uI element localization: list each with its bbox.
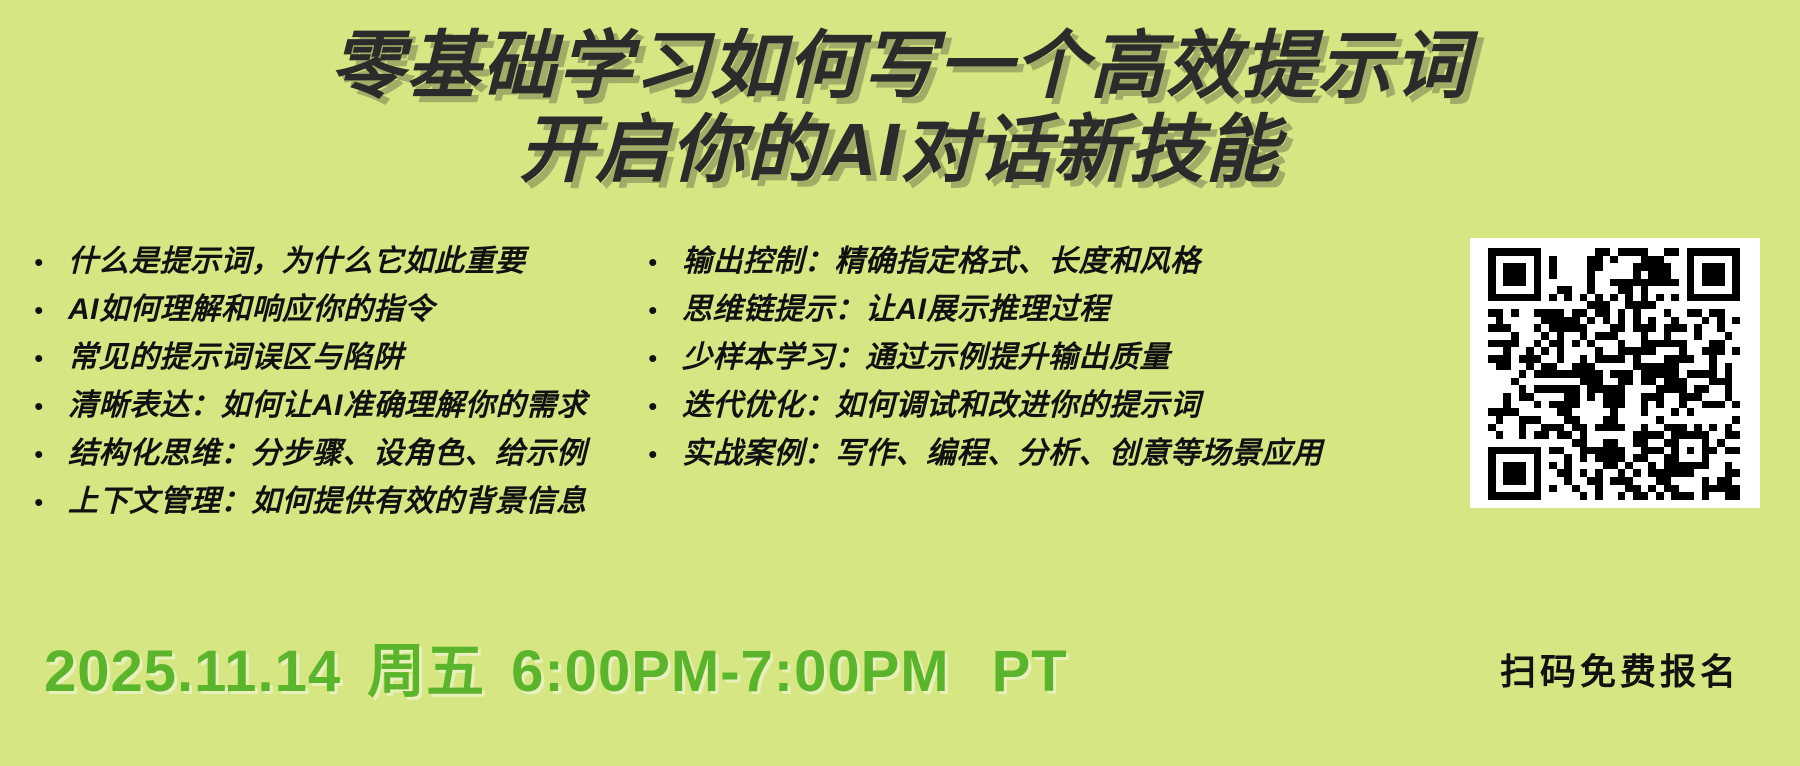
list-item: • AI如何理解和响应你的指令	[34, 286, 640, 334]
bullet-icon: •	[648, 430, 682, 478]
bullet-icon: •	[648, 334, 682, 382]
bullet-icon: •	[34, 382, 68, 430]
list-item-label: 思维链提示：让AI展示推理过程	[682, 286, 1110, 334]
list-item-label: 实战案例：写作、编程、分析、创意等场景应用	[682, 430, 1323, 478]
event-date: 2025.11.14	[44, 638, 341, 706]
event-timezone: PT	[992, 638, 1068, 706]
list-item: • 实战案例：写作、编程、分析、创意等场景应用	[648, 430, 1440, 478]
list-item: • 常见的提示词误区与陷阱	[34, 334, 640, 382]
bullet-icon: •	[648, 238, 682, 286]
list-item: • 思维链提示：让AI展示推理过程	[648, 286, 1440, 334]
list-item-label: AI如何理解和响应你的指令	[68, 286, 435, 334]
list-item-label: 结构化思维：分步骤、设角色、给示例	[68, 430, 587, 478]
list-item: • 少样本学习：通过示例提升输出质量	[648, 334, 1440, 382]
bullet-icon: •	[34, 478, 68, 526]
title-block: 零基础学习如何写一个高效提示词 开启你的AI对话新技能	[0, 24, 1800, 192]
title-line-2: 开启你的AI对话新技能	[0, 108, 1800, 192]
agenda-column-left: • 什么是提示词，为什么它如此重要 • AI如何理解和响应你的指令 • 常见的提…	[0, 238, 640, 526]
event-weekday: 周五	[367, 638, 485, 706]
agenda-column-right: • 输出控制：精确指定格式、长度和风格 • 思维链提示：让AI展示推理过程 • …	[640, 238, 1440, 478]
list-item-label: 什么是提示词，为什么它如此重要	[68, 238, 526, 286]
list-item: • 什么是提示词，为什么它如此重要	[34, 238, 640, 286]
list-item: • 上下文管理：如何提供有效的背景信息	[34, 478, 640, 526]
qr-code-image[interactable]	[1488, 248, 1740, 500]
list-item-label: 输出控制：精确指定格式、长度和风格	[682, 238, 1201, 286]
event-datetime: 2025.11.14周五6:00PM-7:00PMPT	[44, 638, 1068, 706]
qr-code-label: 扫码免费报名	[1470, 650, 1770, 694]
list-item-label: 常见的提示词误区与陷阱	[68, 334, 404, 382]
bullet-icon: •	[648, 382, 682, 430]
bullet-icon: •	[34, 238, 68, 286]
title-line-1: 零基础学习如何写一个高效提示词	[0, 24, 1800, 108]
bullet-icon: •	[34, 430, 68, 478]
list-item: • 结构化思维：分步骤、设角色、给示例	[34, 430, 640, 478]
event-poster: 零基础学习如何写一个高效提示词 开启你的AI对话新技能 • 什么是提示词，为什么…	[0, 0, 1800, 766]
qr-code-card[interactable]	[1470, 238, 1760, 508]
agenda-list: • 什么是提示词，为什么它如此重要 • AI如何理解和响应你的指令 • 常见的提…	[0, 238, 1460, 526]
event-time: 6:00PM-7:00PM	[511, 638, 949, 706]
list-item-label: 少样本学习：通过示例提升输出质量	[682, 334, 1170, 382]
list-item-label: 迭代优化：如何调试和改进你的提示词	[682, 382, 1201, 430]
bullet-icon: •	[34, 334, 68, 382]
list-item: • 迭代优化：如何调试和改进你的提示词	[648, 382, 1440, 430]
list-item: • 输出控制：精确指定格式、长度和风格	[648, 238, 1440, 286]
bullet-icon: •	[34, 286, 68, 334]
list-item-label: 清晰表达：如何让AI准确理解你的需求	[68, 382, 587, 430]
list-item: • 清晰表达：如何让AI准确理解你的需求	[34, 382, 640, 430]
list-item-label: 上下文管理：如何提供有效的背景信息	[68, 478, 587, 526]
bullet-icon: •	[648, 286, 682, 334]
